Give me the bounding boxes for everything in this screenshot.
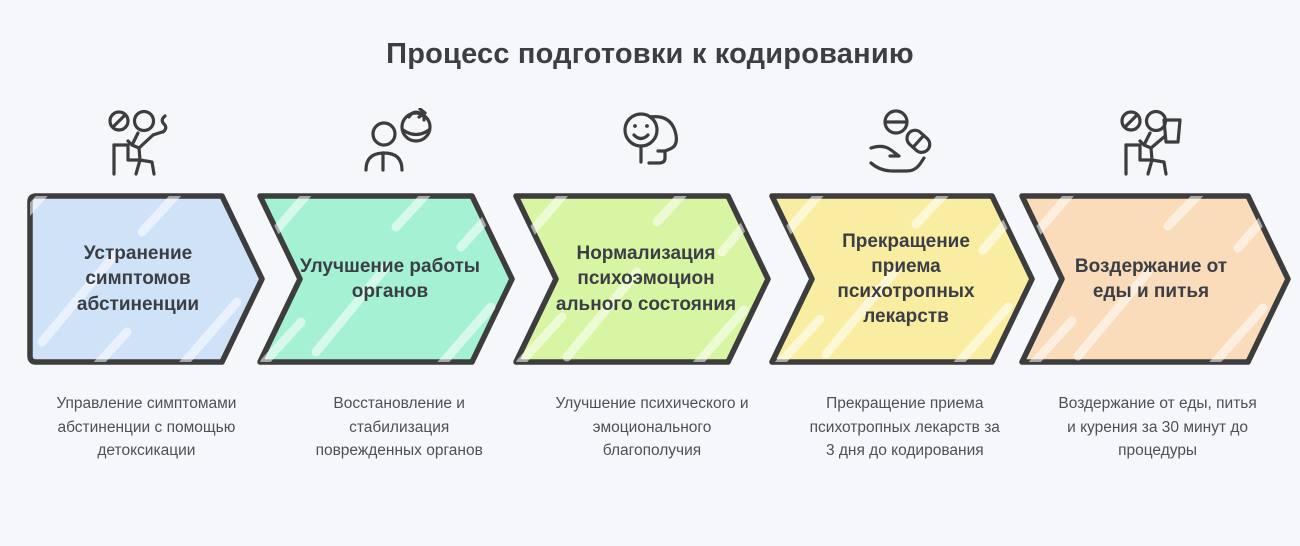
icon-cell-5	[1031, 108, 1284, 186]
hand-pills-icon	[865, 108, 945, 180]
icon-cell-3	[526, 108, 779, 186]
icon-cell-1	[20, 108, 273, 186]
icon-cell-4	[778, 108, 1031, 186]
person-organ-recovery-icon	[359, 108, 439, 180]
head-smiley-mind-icon	[612, 108, 692, 180]
process-step-4[interactable]: Прекращение приема психотропных лекарств	[768, 192, 1038, 366]
process-step-3-caption: Улучшение психического и эмоционального …	[526, 392, 779, 463]
process-step-3[interactable]: Нормализация психоэмоцион ального состоя…	[512, 192, 774, 366]
process-step-4-caption: Прекращение приема психотропных лекарств…	[778, 392, 1031, 463]
process-step-1[interactable]: Устранение симптомов абстиненции	[22, 192, 266, 366]
infographic-canvas: Процесс подготовки к кодированию	[0, 0, 1300, 546]
no-smoking-person-icon	[106, 108, 186, 180]
process-step-5-caption: Воздержание от еды, питья и курения за 3…	[1031, 392, 1284, 463]
process-step-1-caption: Управление симптомами абстиненции с помо…	[20, 392, 273, 463]
process-step-5[interactable]: Воздержание от еды и питья	[1018, 192, 1294, 366]
icons-row	[20, 108, 1284, 186]
process-step-2-caption: Восстановление и стабилизация поврежденн…	[273, 392, 526, 463]
icon-cell-2	[273, 108, 526, 186]
no-eating-drinking-person-icon	[1118, 108, 1198, 180]
process-step-2[interactable]: Улучшение работы органов	[256, 192, 518, 366]
captions-row: Управление симптомами абстиненции с помо…	[20, 392, 1284, 463]
process-flow: Устранение симптомов абстиненции	[0, 192, 1300, 366]
page-title: Процесс подготовки к кодированию	[0, 38, 1300, 71]
